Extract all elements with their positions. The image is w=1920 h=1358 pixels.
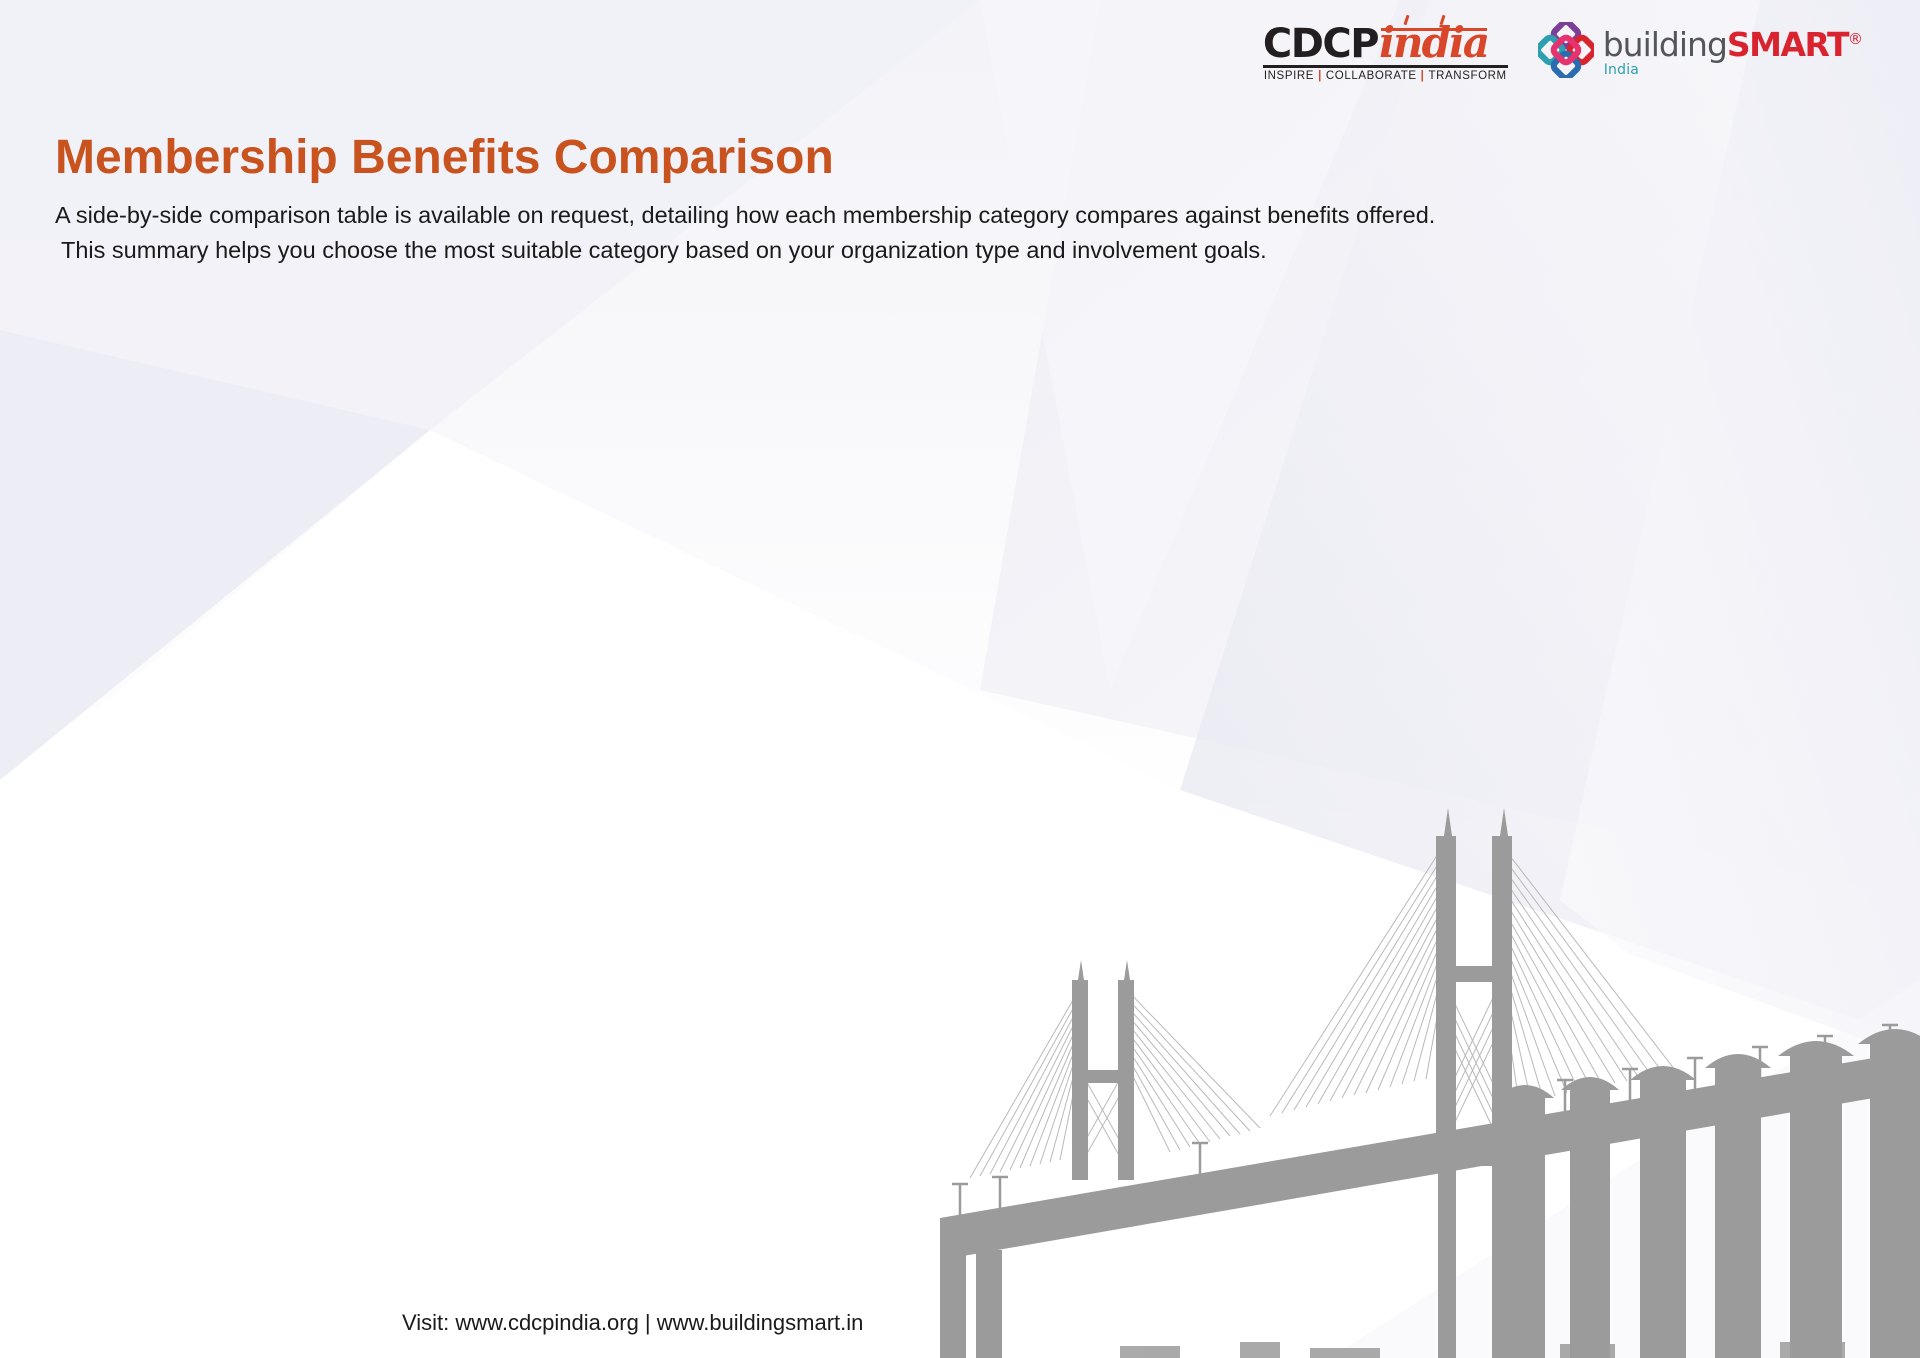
registered-mark-icon: ® <box>1848 30 1862 48</box>
tagline-inspire: INSPIRE <box>1264 71 1314 83</box>
smart-text: SMART <box>1727 25 1848 64</box>
tagline-transform: TRANSFORM <box>1428 71 1506 83</box>
bridge-pylons <box>1072 808 1512 1180</box>
cdcp-india-logo[interactable]: CDCP india INSPIRE | COLLABORATE | TRANS… <box>1263 23 1508 82</box>
bridge-cables <box>970 843 1675 1178</box>
bridge-piers <box>940 1029 1920 1358</box>
building-text: building <box>1603 25 1727 64</box>
buildingsmart-wordmark: buildingSMART® <box>1603 28 1862 61</box>
bridge-illustration <box>940 798 1920 1358</box>
paragraph-line-2: This summary helps you choose the most s… <box>55 233 1455 268</box>
bridge-deck <box>940 1025 1920 1260</box>
page-title: Membership Benefits Comparison <box>55 130 834 185</box>
buildingsmart-text: buildingSMART® India <box>1603 28 1862 77</box>
paragraph-line-1: A side-by-side comparison table is avail… <box>55 202 1435 228</box>
tagline-separator-2: | <box>1417 71 1429 83</box>
cdcp-text: CDCP <box>1263 25 1378 63</box>
tagline-collaborate: COLLABORATE <box>1326 71 1417 83</box>
interlocking-diamonds-icon <box>1538 22 1594 78</box>
intro-paragraph: A side-by-side comparison table is avail… <box>55 198 1455 268</box>
cdcp-india-text-wrap: india <box>1379 23 1488 63</box>
cdcp-tagline: INSPIRE | COLLABORATE | TRANSFORM <box>1263 71 1508 83</box>
cable-stayed-bridge-icon <box>940 798 1920 1358</box>
devanagari-bar-icon <box>1381 28 1487 31</box>
lamp-posts <box>952 1025 1898 1216</box>
bridge-skyline <box>1120 1342 1845 1358</box>
buildingsmart-mark-icon <box>1538 22 1594 83</box>
header-logos: CDCP india INSPIRE | COLLABORATE | TRANS… <box>1263 22 1862 83</box>
buildingsmart-india-logo[interactable]: buildingSMART® India <box>1538 22 1862 83</box>
india-text: india <box>1379 18 1488 67</box>
slide-canvas: CDCP india INSPIRE | COLLABORATE | TRANS… <box>0 0 1920 1358</box>
cdcp-wordmark: CDCP india <box>1263 23 1508 63</box>
tagline-separator-1: | <box>1314 71 1326 83</box>
chapter-label: India <box>1604 63 1862 77</box>
footer-visit-text[interactable]: Visit: www.cdcpindia.org | www.buildings… <box>402 1310 863 1336</box>
